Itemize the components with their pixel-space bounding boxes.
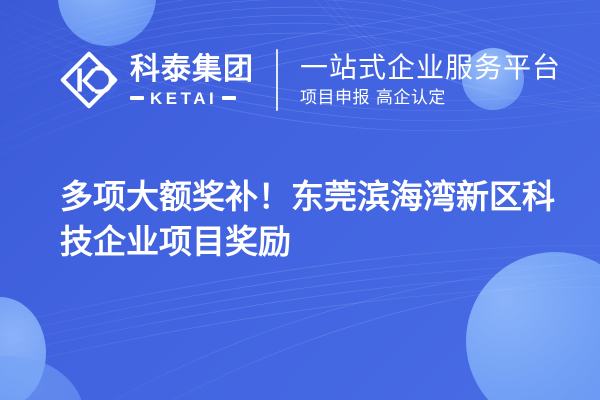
tagline-sub: 项目申报 高企认定 (300, 87, 561, 109)
left-dash-decoration (130, 96, 144, 100)
brand-name-en: KETAI (150, 90, 217, 107)
brand-name-en-row: KETAI (130, 90, 254, 107)
brand-text-block: 科泰集团 KETAI (130, 54, 254, 107)
tagline-main: 一站式企业服务平台 (300, 52, 561, 84)
banner-header: 科泰集团 KETAI 一站式企业服务平台 项目申报 高企认定 (0, 40, 600, 120)
brand-name-cn: 科泰集团 (130, 54, 254, 86)
vertical-divider (276, 49, 278, 111)
ketai-diamond-monogram-logo-icon (58, 49, 120, 111)
right-dash-decoration (222, 96, 236, 100)
tagline-block: 一站式企业服务平台 项目申报 高企认定 (300, 52, 561, 109)
page-title: 多项大额奖补！东莞滨海湾新区科技企业项目奖励 (60, 174, 560, 264)
brand-lockup: 科泰集团 KETAI (58, 49, 254, 111)
promo-banner: 科泰集团 KETAI 一站式企业服务平台 项目申报 高企认定 多项大额奖补！东莞… (0, 0, 600, 400)
